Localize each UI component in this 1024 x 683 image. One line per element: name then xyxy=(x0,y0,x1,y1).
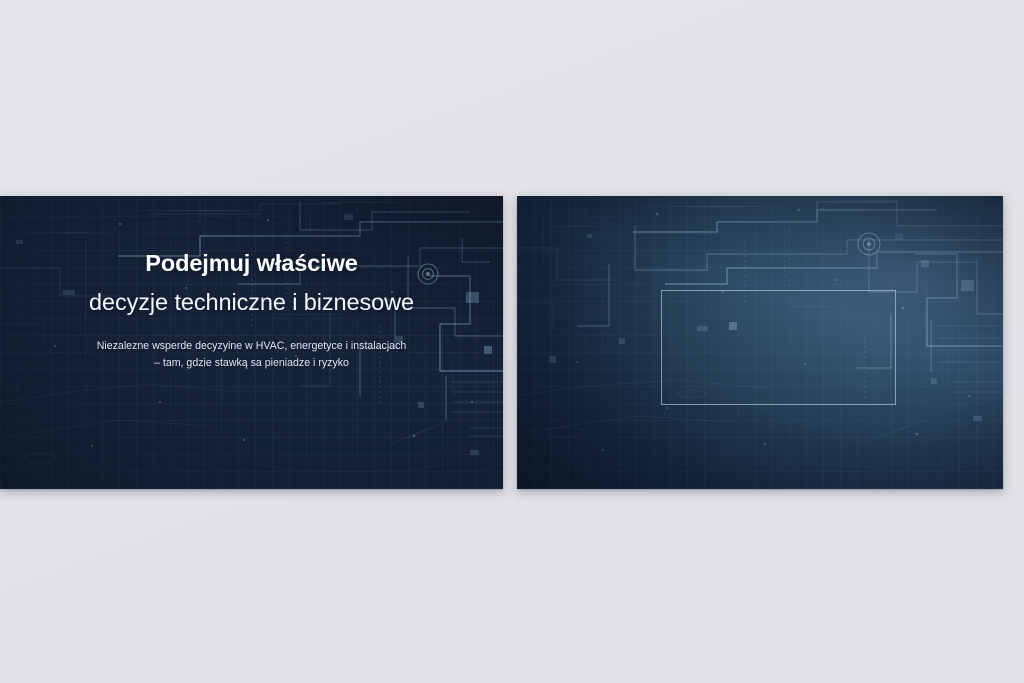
slide-1-text-layer: Podejmuj właściwe decyzje techniczne i b… xyxy=(0,196,503,489)
slide-thumbnail-2[interactable] xyxy=(517,196,1003,489)
slide-thumbnail-1[interactable]: Podejmuj właściwe decyzje techniczne i b… xyxy=(0,196,503,489)
slide-2-text-layer xyxy=(517,196,1003,489)
slide-1-title-line-1: Podejmuj właściwe xyxy=(145,250,358,277)
slide-1-subtitle: Niezalezne wsperde decyzyine w HVAC, ene… xyxy=(97,338,407,372)
page-canvas: Podejmuj właściwe decyzje techniczne i b… xyxy=(0,0,1024,683)
slide-1-title-line-2: decyzje techniczne i biznesowe xyxy=(89,289,414,316)
